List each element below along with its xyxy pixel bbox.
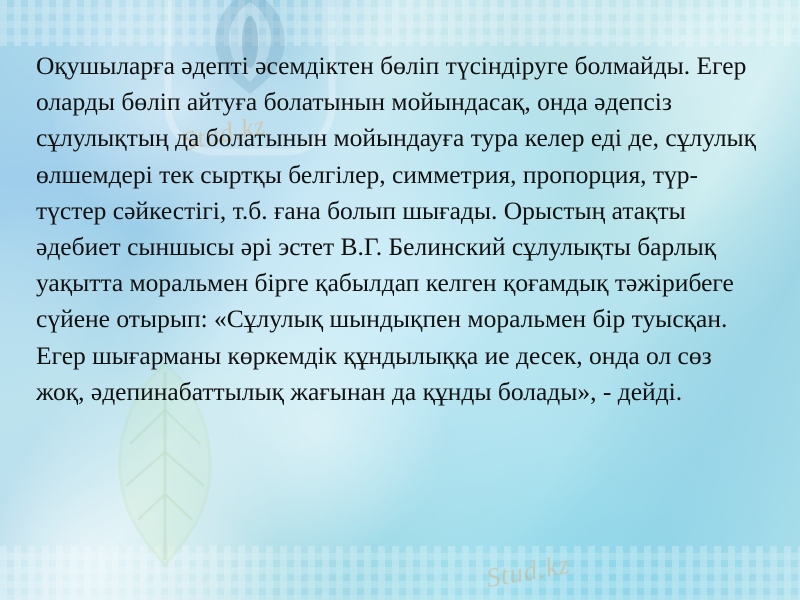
watermark-text-bottom: Stud.kz <box>484 549 572 594</box>
slide-body-text: Оқушыларға әдепті әсемдіктен бөліп түсін… <box>36 48 766 410</box>
top-noise-band <box>0 0 800 46</box>
slide-canvas: Stud.kz Stud.kz Оқушыларға әдепті әсемді… <box>0 0 800 600</box>
bottom-noise-band <box>0 546 800 600</box>
